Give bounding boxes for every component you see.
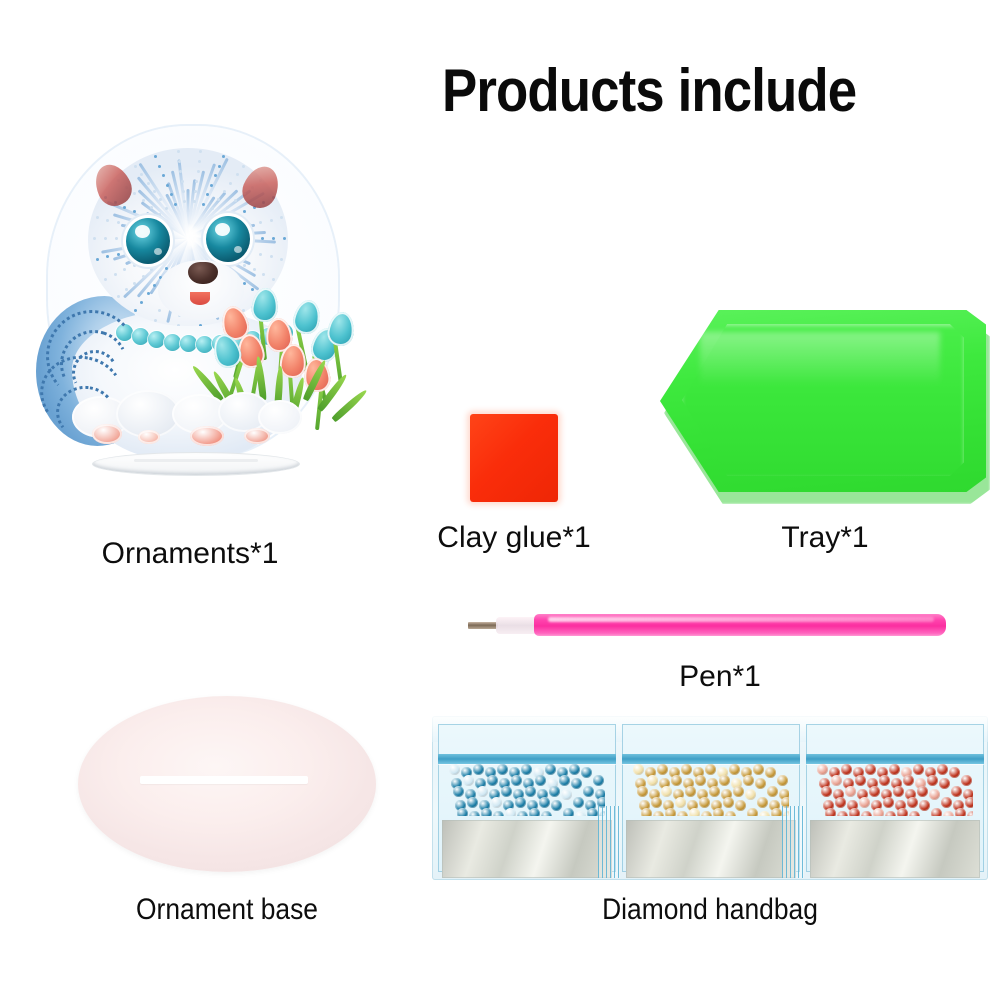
rhinestone: [735, 800, 746, 811]
rhinestone: [695, 775, 706, 786]
rhinestone: [859, 797, 870, 808]
rhinestone: [885, 811, 896, 816]
rhinestone: [633, 764, 644, 775]
rhinestone: [575, 811, 586, 816]
rhinestone: [493, 811, 504, 816]
rhinestone: [653, 811, 664, 816]
rhinestone: [837, 811, 848, 816]
rhinestone: [961, 775, 972, 786]
rhinestone: [671, 775, 682, 786]
rhinestone: [733, 786, 744, 797]
rhinestone: [755, 778, 766, 789]
rhinestone: [949, 767, 960, 778]
rhinestone: [637, 786, 648, 797]
rhinestone: [845, 786, 856, 797]
zip-strip: [438, 754, 616, 764]
gem-row: [817, 764, 974, 816]
oval-stand-base-icon: [78, 696, 376, 872]
rhinestone: [865, 764, 876, 775]
rhinestone: [753, 764, 764, 775]
rhinestone-zip-bags-icon: [432, 716, 988, 880]
rhinestone: [561, 789, 572, 800]
ornament-illustration: [30, 120, 350, 490]
rhinestone: [517, 811, 528, 816]
rhinestone: [929, 789, 940, 800]
rhinestone: [563, 808, 574, 816]
rhinestone: [545, 764, 556, 775]
rhinestone: [689, 808, 700, 816]
rhinestone: [661, 786, 672, 797]
rhinestone: [883, 797, 894, 808]
rhinestone: [879, 775, 890, 786]
rhinestone: [903, 775, 914, 786]
rhinestone: [583, 786, 594, 797]
rhinestone: [931, 808, 942, 816]
rhinestone: [729, 764, 740, 775]
rhinestone: [573, 797, 584, 808]
rhinestone: [651, 797, 662, 808]
standee-foot: [92, 452, 298, 482]
rhinestone: [849, 808, 860, 816]
rhinestone: [521, 764, 532, 775]
zip-strip: [622, 754, 800, 764]
rhinestone: [841, 764, 852, 775]
dog-eye-right: [206, 216, 250, 262]
bag-rib-fold: [598, 806, 620, 878]
rhinestone: [501, 786, 512, 797]
rhinestone: [907, 797, 918, 808]
rhinestone: [571, 778, 582, 789]
rhinestone: [919, 800, 930, 811]
pen-highlight: [548, 617, 934, 622]
rhinestone: [713, 808, 724, 816]
zip-bag: [622, 724, 800, 872]
rhinestone: [473, 764, 484, 775]
rhinestone: [467, 797, 478, 808]
rhinestone: [745, 789, 756, 800]
rhinestone: [927, 775, 938, 786]
rhinestone: [481, 808, 492, 816]
rhinestone: [581, 767, 592, 778]
rhinestone: [705, 764, 716, 775]
zip-strip: [806, 754, 984, 764]
rhinestone: [487, 775, 498, 786]
rhinestone: [777, 775, 788, 786]
rhinestone: [855, 775, 866, 786]
rhinestone: [747, 808, 758, 816]
rhinestone: [559, 775, 570, 786]
rhinestone: [677, 811, 688, 816]
rhinestone: [825, 808, 836, 816]
rhinestone: [943, 811, 954, 816]
rhinestone: [725, 811, 736, 816]
rhinestone: [941, 797, 952, 808]
rhinestone: [889, 764, 900, 775]
label-tray: Tray*1: [715, 521, 935, 555]
rhinestone: [665, 808, 676, 816]
rhinestone: [463, 775, 474, 786]
rhinestone: [525, 786, 536, 797]
dog-eye-left: [126, 218, 170, 264]
rhinestone: [535, 775, 546, 786]
rhinestone: [685, 786, 696, 797]
rhinestone: [457, 808, 468, 816]
page-title: Products include: [442, 60, 935, 122]
rhinestone: [657, 764, 668, 775]
pen-tip: [468, 622, 498, 629]
rhinestone: [477, 786, 488, 797]
rhinestone: [551, 800, 562, 811]
gem-row: [633, 764, 790, 816]
diamond-tray-icon: [660, 310, 990, 500]
rhinestone: [757, 797, 768, 808]
rhinestone: [709, 786, 720, 797]
rhinestone: [453, 786, 464, 797]
rhinestone: [541, 811, 552, 816]
zip-bag: [806, 724, 984, 872]
base-oval: [78, 696, 376, 872]
label-diamond-handbag: Diamond handbag: [465, 893, 954, 927]
rhinestone: [529, 808, 540, 816]
rhinestone: [699, 797, 710, 808]
rhinestone: [681, 764, 692, 775]
rhinestone: [861, 811, 872, 816]
rhinestone: [491, 797, 502, 808]
rhinestone: [937, 764, 948, 775]
label-ornament-base: Ornament base: [96, 893, 358, 927]
dog-tongue: [190, 292, 210, 305]
rhinestone: [939, 778, 950, 789]
tray-gloss: [700, 332, 940, 386]
rhinestone: [701, 811, 712, 816]
rhinestone: [549, 786, 560, 797]
drill-pen-icon: [468, 612, 946, 638]
rhinestone: [675, 797, 686, 808]
rhinestone: [893, 786, 904, 797]
rhinestone: [593, 775, 604, 786]
rhinestone: [913, 764, 924, 775]
rhinestone: [719, 775, 730, 786]
rhinestone: [965, 797, 974, 808]
zip-bag: [438, 724, 616, 872]
rhinestone: [641, 808, 652, 816]
rhinestone: [647, 775, 658, 786]
rhinestone: [817, 764, 828, 775]
rhinestone: [873, 808, 884, 816]
rhinestone: [909, 811, 920, 816]
product-contents-infographic: Products include Ornaments*1 Clay glue*1: [0, 0, 1001, 1001]
foil-label: [810, 820, 981, 878]
rhinestone: [835, 797, 846, 808]
rhinestone: [511, 775, 522, 786]
rhinestone: [449, 764, 460, 775]
rhinestone: [569, 764, 580, 775]
rhinestone: [497, 764, 508, 775]
rhinestone: [469, 811, 480, 816]
rhinestone: [831, 775, 842, 786]
label-ornaments: Ornaments*1: [30, 537, 350, 571]
base-slot: [140, 776, 308, 784]
rhinestone: [767, 786, 778, 797]
rhinestone: [765, 767, 776, 778]
label-pen: Pen*1: [620, 660, 820, 694]
clay-glue-square-icon: [470, 414, 558, 502]
rhinestone: [743, 775, 754, 786]
rhinestone: [955, 808, 966, 816]
rhinestone: [897, 808, 908, 816]
standee-foot-slot: [134, 459, 258, 462]
rhinestone: [515, 797, 526, 808]
rhinestone: [723, 797, 734, 808]
rhinestone: [539, 797, 550, 808]
rhinestone: [759, 811, 770, 816]
rhinestone: [505, 808, 516, 816]
rhinestone: [587, 808, 598, 816]
gem-row: [449, 764, 606, 816]
tail-swirls: [36, 296, 154, 446]
bag-rib-fold: [782, 806, 804, 878]
foil-label: [442, 820, 613, 878]
rhinestone: [771, 808, 782, 816]
rhinestone: [951, 786, 962, 797]
rhinestone: [917, 786, 928, 797]
rhinestone: [967, 811, 974, 816]
rhinestone: [821, 786, 832, 797]
rhinestone: [869, 786, 880, 797]
standee-foot-top: [92, 452, 300, 476]
label-clay-glue: Clay glue*1: [404, 521, 624, 555]
foil-label: [626, 820, 797, 878]
